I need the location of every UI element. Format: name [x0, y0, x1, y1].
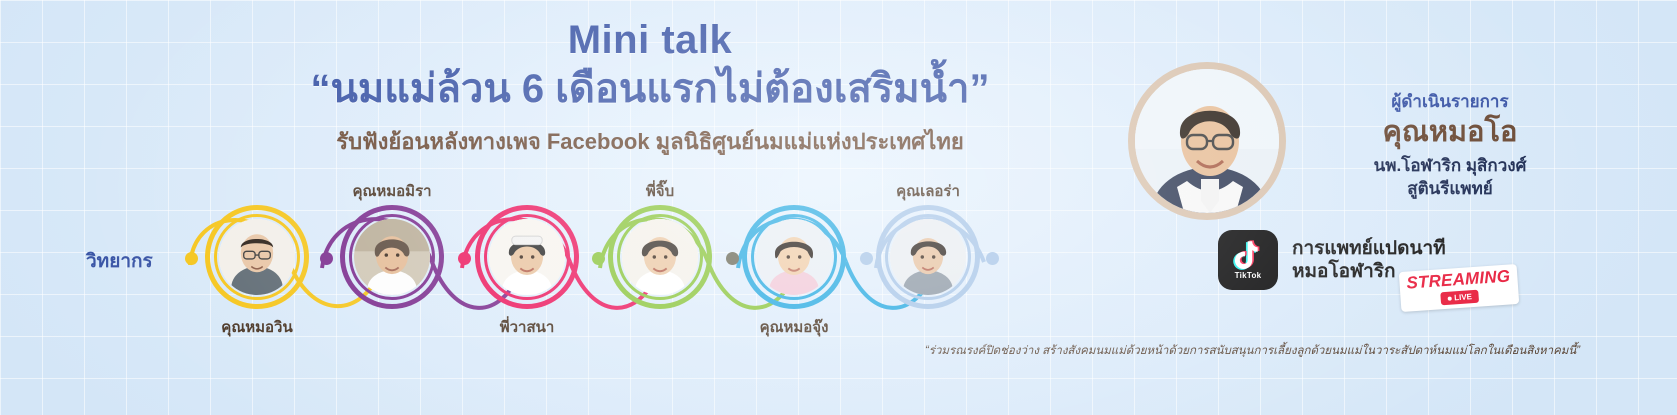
speaker-card-5[interactable]: คุณหมอจุ๊ง [742, 205, 846, 309]
speaker-name-4: พี่จิ๊บ [646, 179, 674, 203]
avatar-jib-icon [622, 219, 698, 295]
tiktok-channel-line1: การแพทย์แปดนาที [1292, 237, 1446, 260]
avatar-mira-icon [354, 219, 430, 295]
speakers-section-label: วิทยากร [86, 246, 153, 276]
connector-dot-6 [860, 252, 873, 265]
connector-dot-7 [986, 252, 999, 265]
avatar-jung-icon [756, 219, 832, 295]
avatar-win-icon [219, 219, 295, 295]
tiktok-logo-icon[interactable]: TikTok [1218, 230, 1278, 290]
connector-dot-3 [458, 252, 471, 265]
speaker-avatar-ring-3 [475, 205, 579, 309]
title-quote: “นมแม่ล้วน 6 เดือนแรกไม่ต้องเสริมน้ำ” [250, 64, 1050, 114]
speaker-name-1: คุณหมอวิน [221, 315, 292, 339]
streaming-label: STREAMING [1406, 267, 1511, 291]
avatar-laura-icon [890, 219, 966, 295]
speaker-name-6: คุณเลอร่า [896, 179, 960, 203]
speaker-name-5: คุณหมอจุ๊ง [760, 315, 829, 339]
speaker-name-3: พี่วาสนา [500, 315, 555, 339]
streaming-badge: STREAMING LIVE [1399, 264, 1519, 312]
host-nickname: คุณหมอโอ [1300, 114, 1600, 150]
page-title: Mini talk [250, 18, 1050, 62]
connector-dot-5 [726, 252, 739, 265]
host-specialty: สูตินรีแพทย์ [1300, 178, 1600, 201]
speaker-card-4[interactable]: พี่จิ๊บ [608, 205, 712, 309]
promo-banner: Mini talk “นมแม่ล้วน 6 เดือนแรกไม่ต้องเส… [0, 0, 1677, 415]
speaker-card-3[interactable]: พี่วาสนา [475, 205, 579, 309]
title-subtitle: รับฟังย้อนหลังทางเพจ Facebook มูลนิธิศูน… [250, 128, 1050, 157]
host-full-name: นพ.โอฬาริก มุสิกวงศ์ [1300, 155, 1600, 178]
speaker-avatar-ring-1 [205, 205, 309, 309]
live-label: LIVE [1454, 292, 1472, 302]
speaker-card-1[interactable]: คุณหมอวิน [205, 205, 309, 309]
host-role: ผู้ดำเนินรายการ [1300, 92, 1600, 112]
connector-dot-1 [185, 252, 198, 265]
speaker-name-2: คุณหมอมิรา [352, 179, 431, 203]
avatar-wassana-icon [489, 219, 565, 295]
speaker-avatar-ring-6 [876, 205, 980, 309]
host-portrait-icon [1128, 62, 1286, 220]
connector-dot-2 [320, 252, 333, 265]
footer-note: “ร่วมรณรงค์ปิดช่องว่าง สร้างสังคมนมแม่ด้… [845, 344, 1660, 359]
speaker-card-2[interactable]: คุณหมอมิรา [340, 205, 444, 309]
speaker-card-6[interactable]: คุณเลอร่า [876, 205, 980, 309]
live-dot-icon [1447, 296, 1451, 300]
speaker-avatar-ring-4 [608, 205, 712, 309]
speaker-avatar-ring-2 [340, 205, 444, 309]
speaker-avatar-ring-5 [742, 205, 846, 309]
host-info: ผู้ดำเนินรายการ คุณหมอโอ นพ.โอฬาริก มุสิ… [1300, 92, 1600, 201]
live-pill: LIVE [1440, 290, 1480, 306]
title-block: Mini talk “นมแม่ล้วน 6 เดือนแรกไม่ต้องเส… [250, 18, 1050, 157]
connector-dot-4 [592, 252, 605, 265]
tiktok-wordmark: TikTok [1235, 271, 1262, 280]
